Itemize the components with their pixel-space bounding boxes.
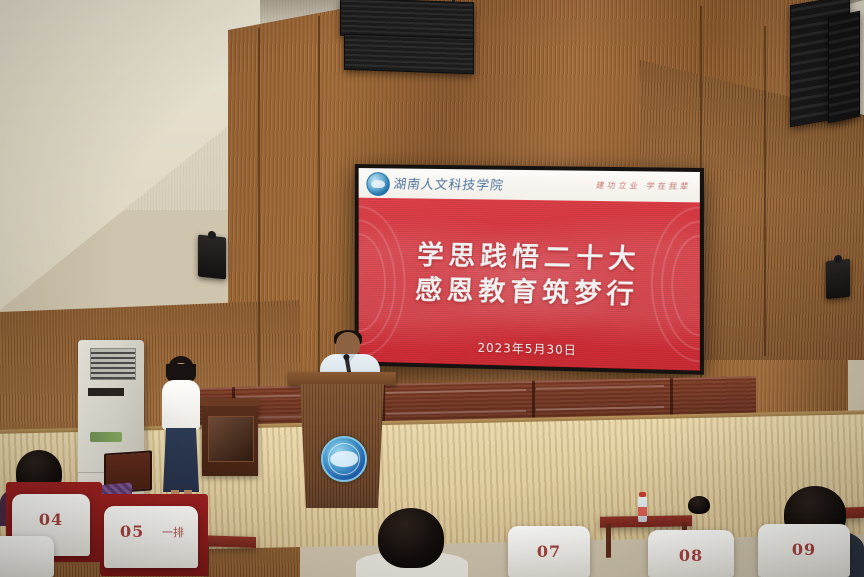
seat-number-suffix: 一排 — [104, 524, 198, 540]
wooden-display-cabinet — [202, 398, 258, 476]
banner-title-line2: 感恩教育筑梦行 — [357, 272, 700, 314]
panel-highlight — [536, 406, 664, 411]
university-seal-logo — [366, 172, 389, 196]
white-blouse — [162, 380, 200, 430]
wall-mounted-speaker-right — [826, 259, 850, 300]
wood-wall-seam — [258, 28, 260, 420]
screen-header-band: 湖南人文科技学院 建功立业 学在我辈 — [359, 168, 700, 202]
audience-head — [378, 508, 444, 568]
seat-cover-05[interactable]: 05 一排 — [104, 506, 198, 568]
seat-cover-08[interactable]: 08 — [648, 530, 734, 577]
air-vent-grill — [90, 348, 136, 380]
seat-number: 08 — [648, 546, 734, 565]
institution-name: 湖南人文科技学院 — [392, 173, 505, 193]
seat-cover-07[interactable]: 07 — [508, 526, 590, 577]
ac-brand-logo — [90, 432, 122, 442]
wall-mounted-speaker-left — [198, 235, 226, 280]
podium-front-panel — [300, 384, 384, 508]
header-side-text: 建功立业 学在我辈 — [596, 180, 693, 192]
woman-standing-stage-left — [160, 356, 204, 508]
banner-date: 2023年5月30日 — [359, 336, 700, 362]
seat-cover-09[interactable]: 09 — [758, 524, 850, 577]
ac-display-panel — [88, 388, 124, 396]
bottle-label — [638, 507, 647, 516]
cabinet-top — [200, 398, 260, 406]
audience-head — [688, 496, 710, 514]
wood-wall-seam — [764, 26, 766, 356]
university-crest-emblem — [321, 436, 367, 482]
ceiling-line-array-speaker — [344, 34, 474, 75]
panel-highlight — [536, 385, 664, 390]
led-stage-screen: 湖南人文科技学院 建功立业 学在我辈 学思践悟二十大 感恩教育筑梦行 2023年… — [355, 164, 704, 375]
banner-title: 学思践悟二十大 感恩教育筑梦行 — [357, 237, 702, 314]
speaker-mount-knob — [834, 255, 842, 264]
wooden-podium — [294, 372, 390, 508]
podium-top-surface — [288, 372, 396, 385]
seat-number: 07 — [508, 542, 590, 561]
speaker-mount-knob — [208, 231, 216, 240]
table-leg — [606, 524, 611, 558]
auditorium-photo: 湖南人文科技学院 建功立业 学在我辈 学思践悟二十大 感恩教育筑梦行 2023年… — [0, 0, 864, 577]
seat-number: 09 — [758, 540, 850, 559]
bottle-cap — [639, 492, 646, 497]
emblem-inner-ring — [328, 443, 360, 475]
seat-number: 04 — [12, 510, 90, 529]
seat-cover[interactable] — [0, 536, 54, 577]
panel-highlight — [386, 410, 526, 415]
panel-highlight — [386, 389, 526, 394]
screen-body: 学思践悟二十大 感恩教育筑梦行 2023年5月30日 — [359, 198, 700, 371]
navy-skirt — [163, 428, 199, 492]
bottled-water — [638, 496, 647, 522]
cabinet-glass-door — [208, 416, 254, 462]
right-line-array-speaker — [828, 11, 860, 124]
wood-wall-seam — [318, 16, 320, 376]
